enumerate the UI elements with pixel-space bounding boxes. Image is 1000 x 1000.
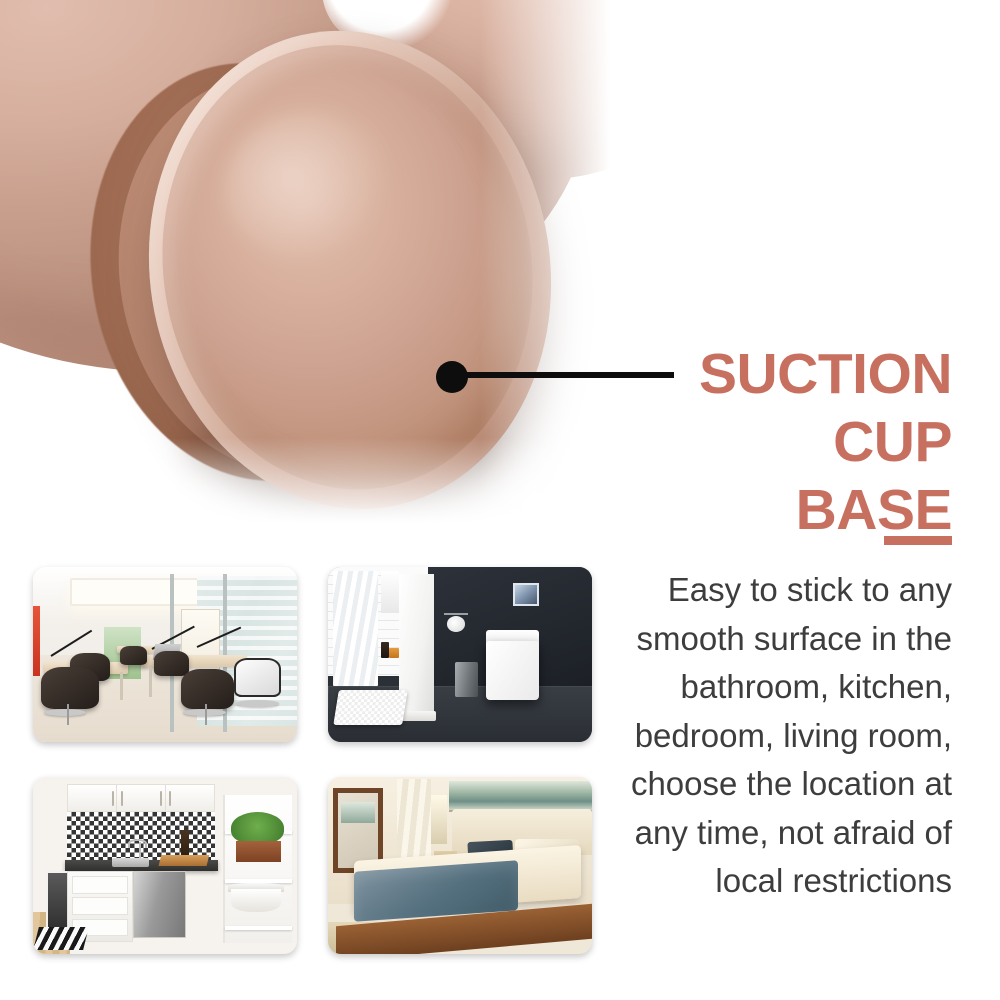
headline-accent-bar (884, 536, 952, 545)
kitchen-plant-pot (236, 841, 281, 862)
toilet-paper-roll (447, 616, 465, 632)
kitchen-striped-rug (33, 927, 89, 950)
headline: SUCTION CUP BASE (522, 340, 952, 544)
usage-scene-gallery (33, 567, 591, 954)
mirror-reflection (341, 802, 375, 823)
office-chair (154, 651, 188, 676)
toilet-paper-holder (444, 613, 468, 615)
cabinet-divider (165, 785, 166, 811)
description-text: Easy to stick to any smooth surface in t… (610, 566, 952, 906)
kitchen-casserole-dish (231, 889, 281, 912)
bathroom-bottle (381, 642, 389, 658)
thumbnail-bedroom[interactable] (328, 777, 592, 954)
chair-stem (205, 704, 207, 725)
chair-base (44, 709, 86, 716)
cabinet-handle (160, 791, 162, 806)
cabinet-handle (169, 791, 171, 806)
kitchen-cutting-board (158, 855, 208, 866)
bathroom-bin (455, 662, 479, 697)
desk-leg (120, 672, 123, 700)
bathroom-jar (389, 648, 400, 659)
office-red-accent (33, 606, 40, 676)
kitchen-dishwasher (133, 871, 186, 938)
bath-mat (333, 690, 407, 725)
thumbnail-bathroom[interactable] (328, 567, 592, 742)
cabinet-handle (121, 791, 123, 806)
cabinet-drawer (72, 876, 128, 894)
shelf-board (225, 926, 292, 930)
thumbnail-kitchen[interactable] (33, 777, 297, 954)
office-chair (41, 667, 99, 709)
headline-line-1: SUCTION (522, 340, 952, 408)
kitchen-upper-cabinets (67, 784, 215, 812)
headline-line-3: BASE (522, 476, 952, 544)
shower-curtain (333, 571, 378, 687)
desk-leg (149, 665, 152, 697)
headline-line-2: CUP (522, 408, 952, 476)
office-chair (181, 669, 234, 709)
kitchen-faucet-arc (128, 839, 146, 848)
chair-stem (67, 704, 69, 725)
kitchen-herb-plant (231, 812, 284, 844)
cabinet-divider (116, 785, 117, 811)
chair-base (236, 700, 278, 707)
cup-highlight (213, 100, 404, 276)
product-infographic: SUCTION CUP BASE Easy to stick to any sm… (0, 0, 1000, 1000)
office-chair-white (234, 658, 282, 697)
thumbnail-office[interactable] (33, 567, 297, 742)
toilet (486, 641, 539, 701)
cabinet-handle (112, 791, 114, 806)
office-chair (120, 646, 146, 665)
bedroom-wall-art (449, 781, 592, 813)
kitchen-sink (112, 858, 149, 867)
bathroom-wall-art (513, 583, 539, 606)
cabinet-drawer (72, 897, 128, 915)
bathroom-towel (381, 571, 399, 613)
